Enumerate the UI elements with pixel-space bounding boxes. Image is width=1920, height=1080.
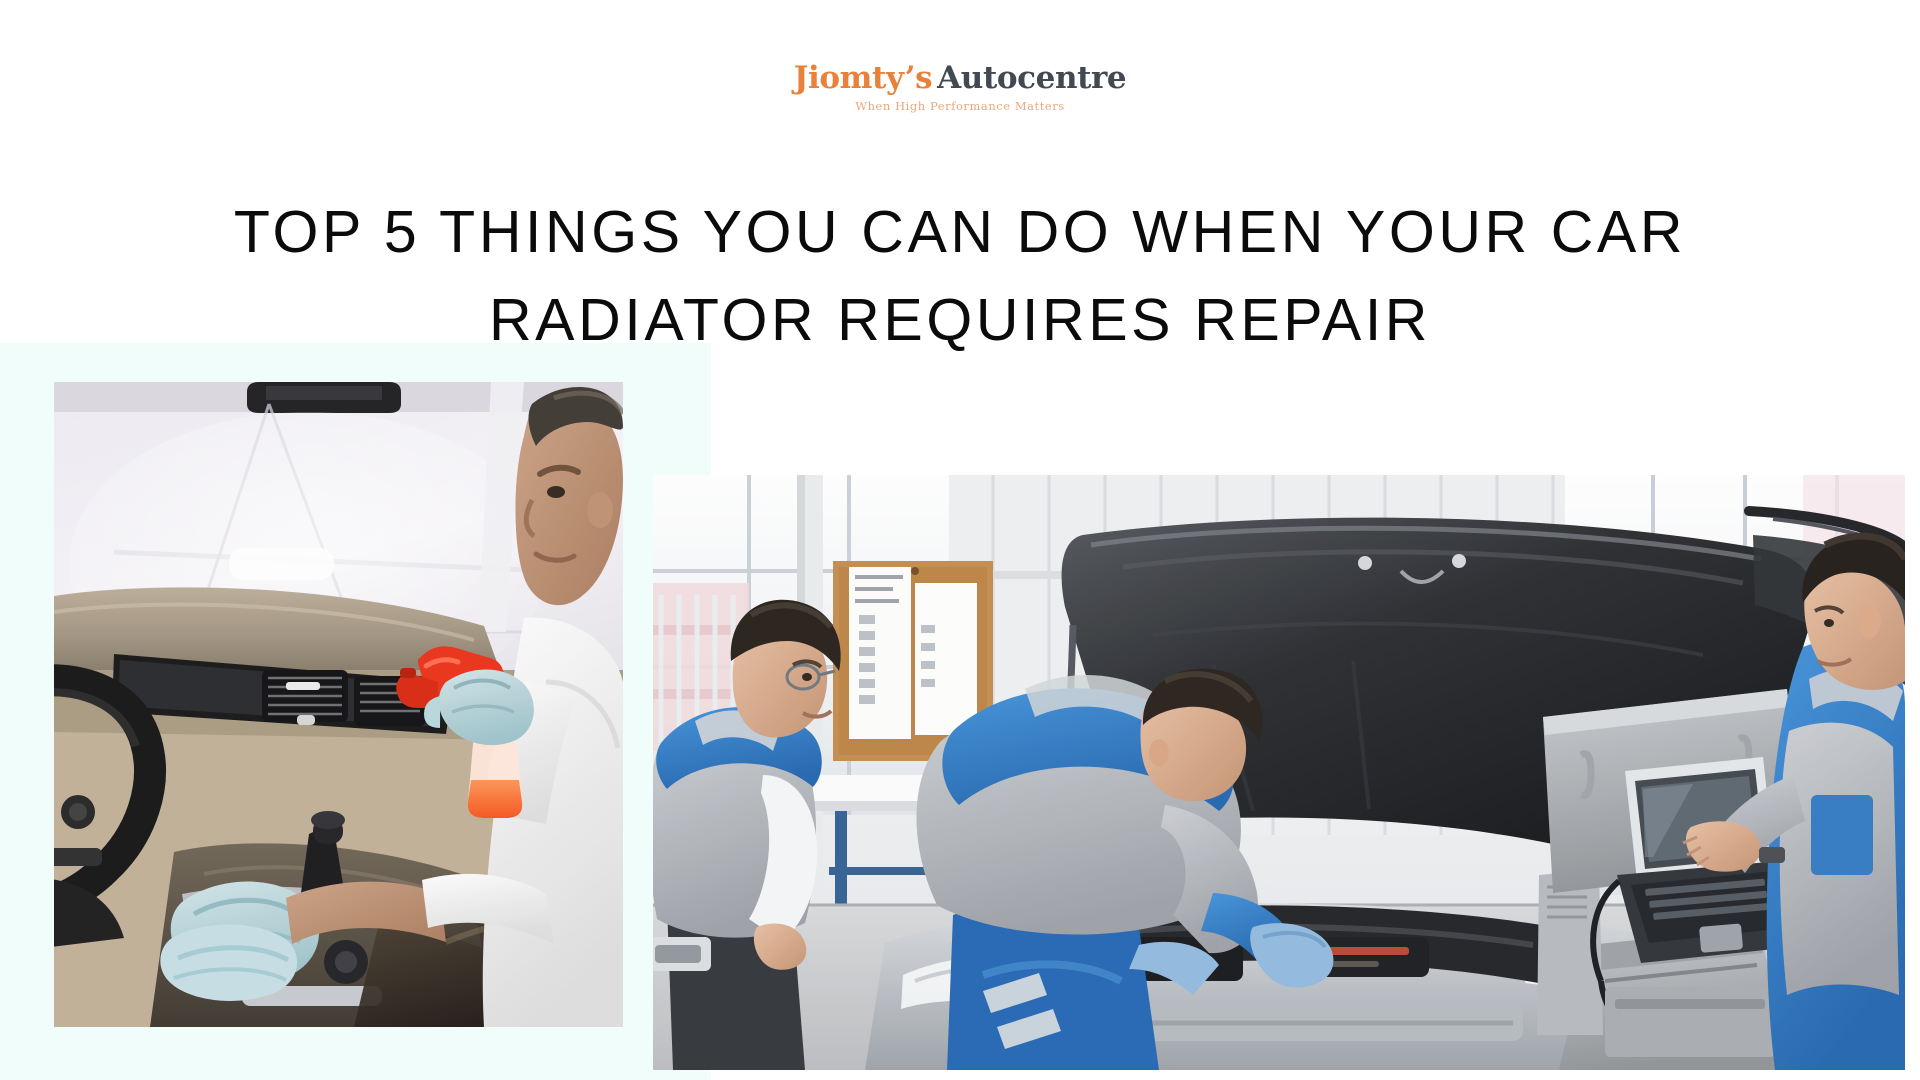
site-logo[interactable]: Jiomty’sAutocentre When High Performance… [0,62,1920,113]
logo-secondary-name: Autocentre [937,60,1126,96]
logo-wordmark: Jiomty’sAutocentre [0,62,1920,95]
logo-brand-name: Jiomty’s [794,60,932,96]
page-title: Top 5 Things You Can Do When Your Car Ra… [100,188,1820,364]
mechanics-engine-diagnostics-photo [653,475,1905,1070]
article-header-page: Jiomty’sAutocentre When High Performance… [0,0,1920,1080]
page-title-line-2: Radiator Requires Repair [100,276,1820,364]
logo-tagline: When High Performance Matters [0,99,1920,113]
car-interior-cleaning-photo [54,382,623,1027]
page-title-line-1: Top 5 Things You Can Do When Your Car [100,188,1820,276]
